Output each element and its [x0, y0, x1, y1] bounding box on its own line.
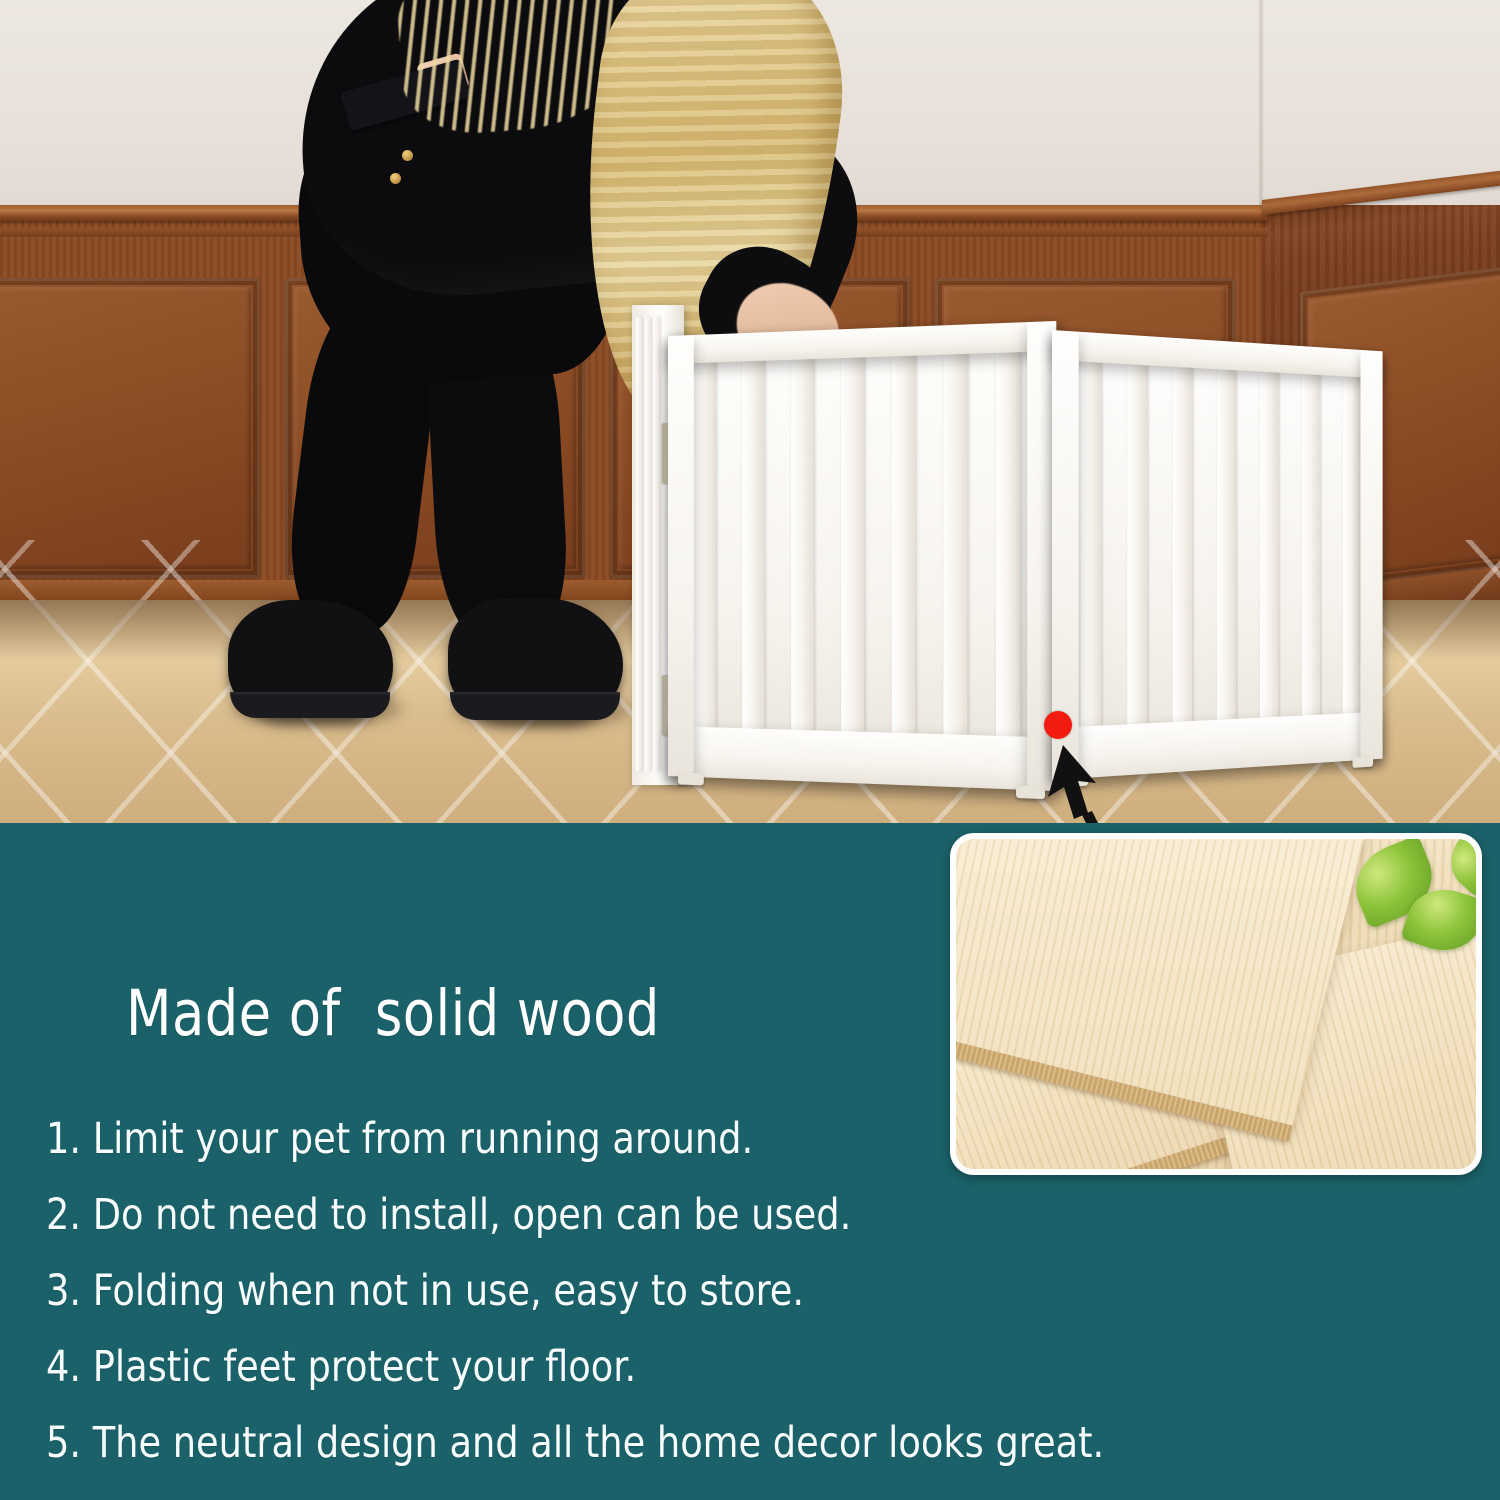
gate-stile-right — [1360, 350, 1382, 760]
gate-slat — [1127, 364, 1147, 724]
callout-arrow-icon — [1030, 735, 1140, 823]
page-title: Made of solid wood — [126, 977, 660, 1050]
wood-detail-inset — [950, 833, 1482, 1175]
gate-slat — [1217, 369, 1236, 720]
gate-slat — [1260, 372, 1279, 718]
gate-slat — [694, 360, 716, 727]
pocket-stud — [402, 150, 413, 161]
gate-slat — [841, 355, 864, 732]
list-item: 5. The neutral design and all the home d… — [46, 1422, 1329, 1465]
boot-left — [228, 600, 393, 718]
gate-slat — [791, 357, 814, 730]
feature-list: 1. Limit your pet from running around. 2… — [46, 1118, 1396, 1498]
gate-slat — [892, 354, 916, 734]
gate-panel-right — [1052, 330, 1383, 780]
gate-slat-edge — [636, 317, 642, 771]
wall-corner — [1258, 0, 1264, 225]
list-item: 2. Do not need to install, open can be u… — [46, 1194, 1329, 1237]
lifestyle-photo — [0, 0, 1500, 823]
gate-panel-middle — [668, 321, 1056, 791]
pocket-stud — [390, 173, 401, 184]
gate-slat-edge — [654, 317, 660, 771]
gate-slat — [742, 359, 764, 729]
gate-foot — [678, 772, 704, 785]
gate-stile-left — [668, 335, 694, 777]
gate-slat — [943, 352, 967, 735]
gate-slat — [1081, 362, 1102, 727]
gate-foot — [1352, 756, 1373, 768]
gate-slat — [1302, 374, 1320, 716]
gate-slat — [1343, 376, 1361, 713]
wainscot-panel — [0, 278, 260, 578]
list-item: 3. Folding when not in use, easy to stor… — [46, 1270, 1329, 1313]
product-infographic: Made of solid wood 1. Limit your pet fro… — [0, 0, 1500, 1500]
gate-slat — [996, 350, 1020, 737]
list-item: 4. Plastic feet protect your floor. — [46, 1346, 1329, 1389]
gate-slat — [1173, 367, 1193, 722]
boot-right — [448, 598, 623, 720]
gate-slat-edge — [645, 317, 651, 771]
